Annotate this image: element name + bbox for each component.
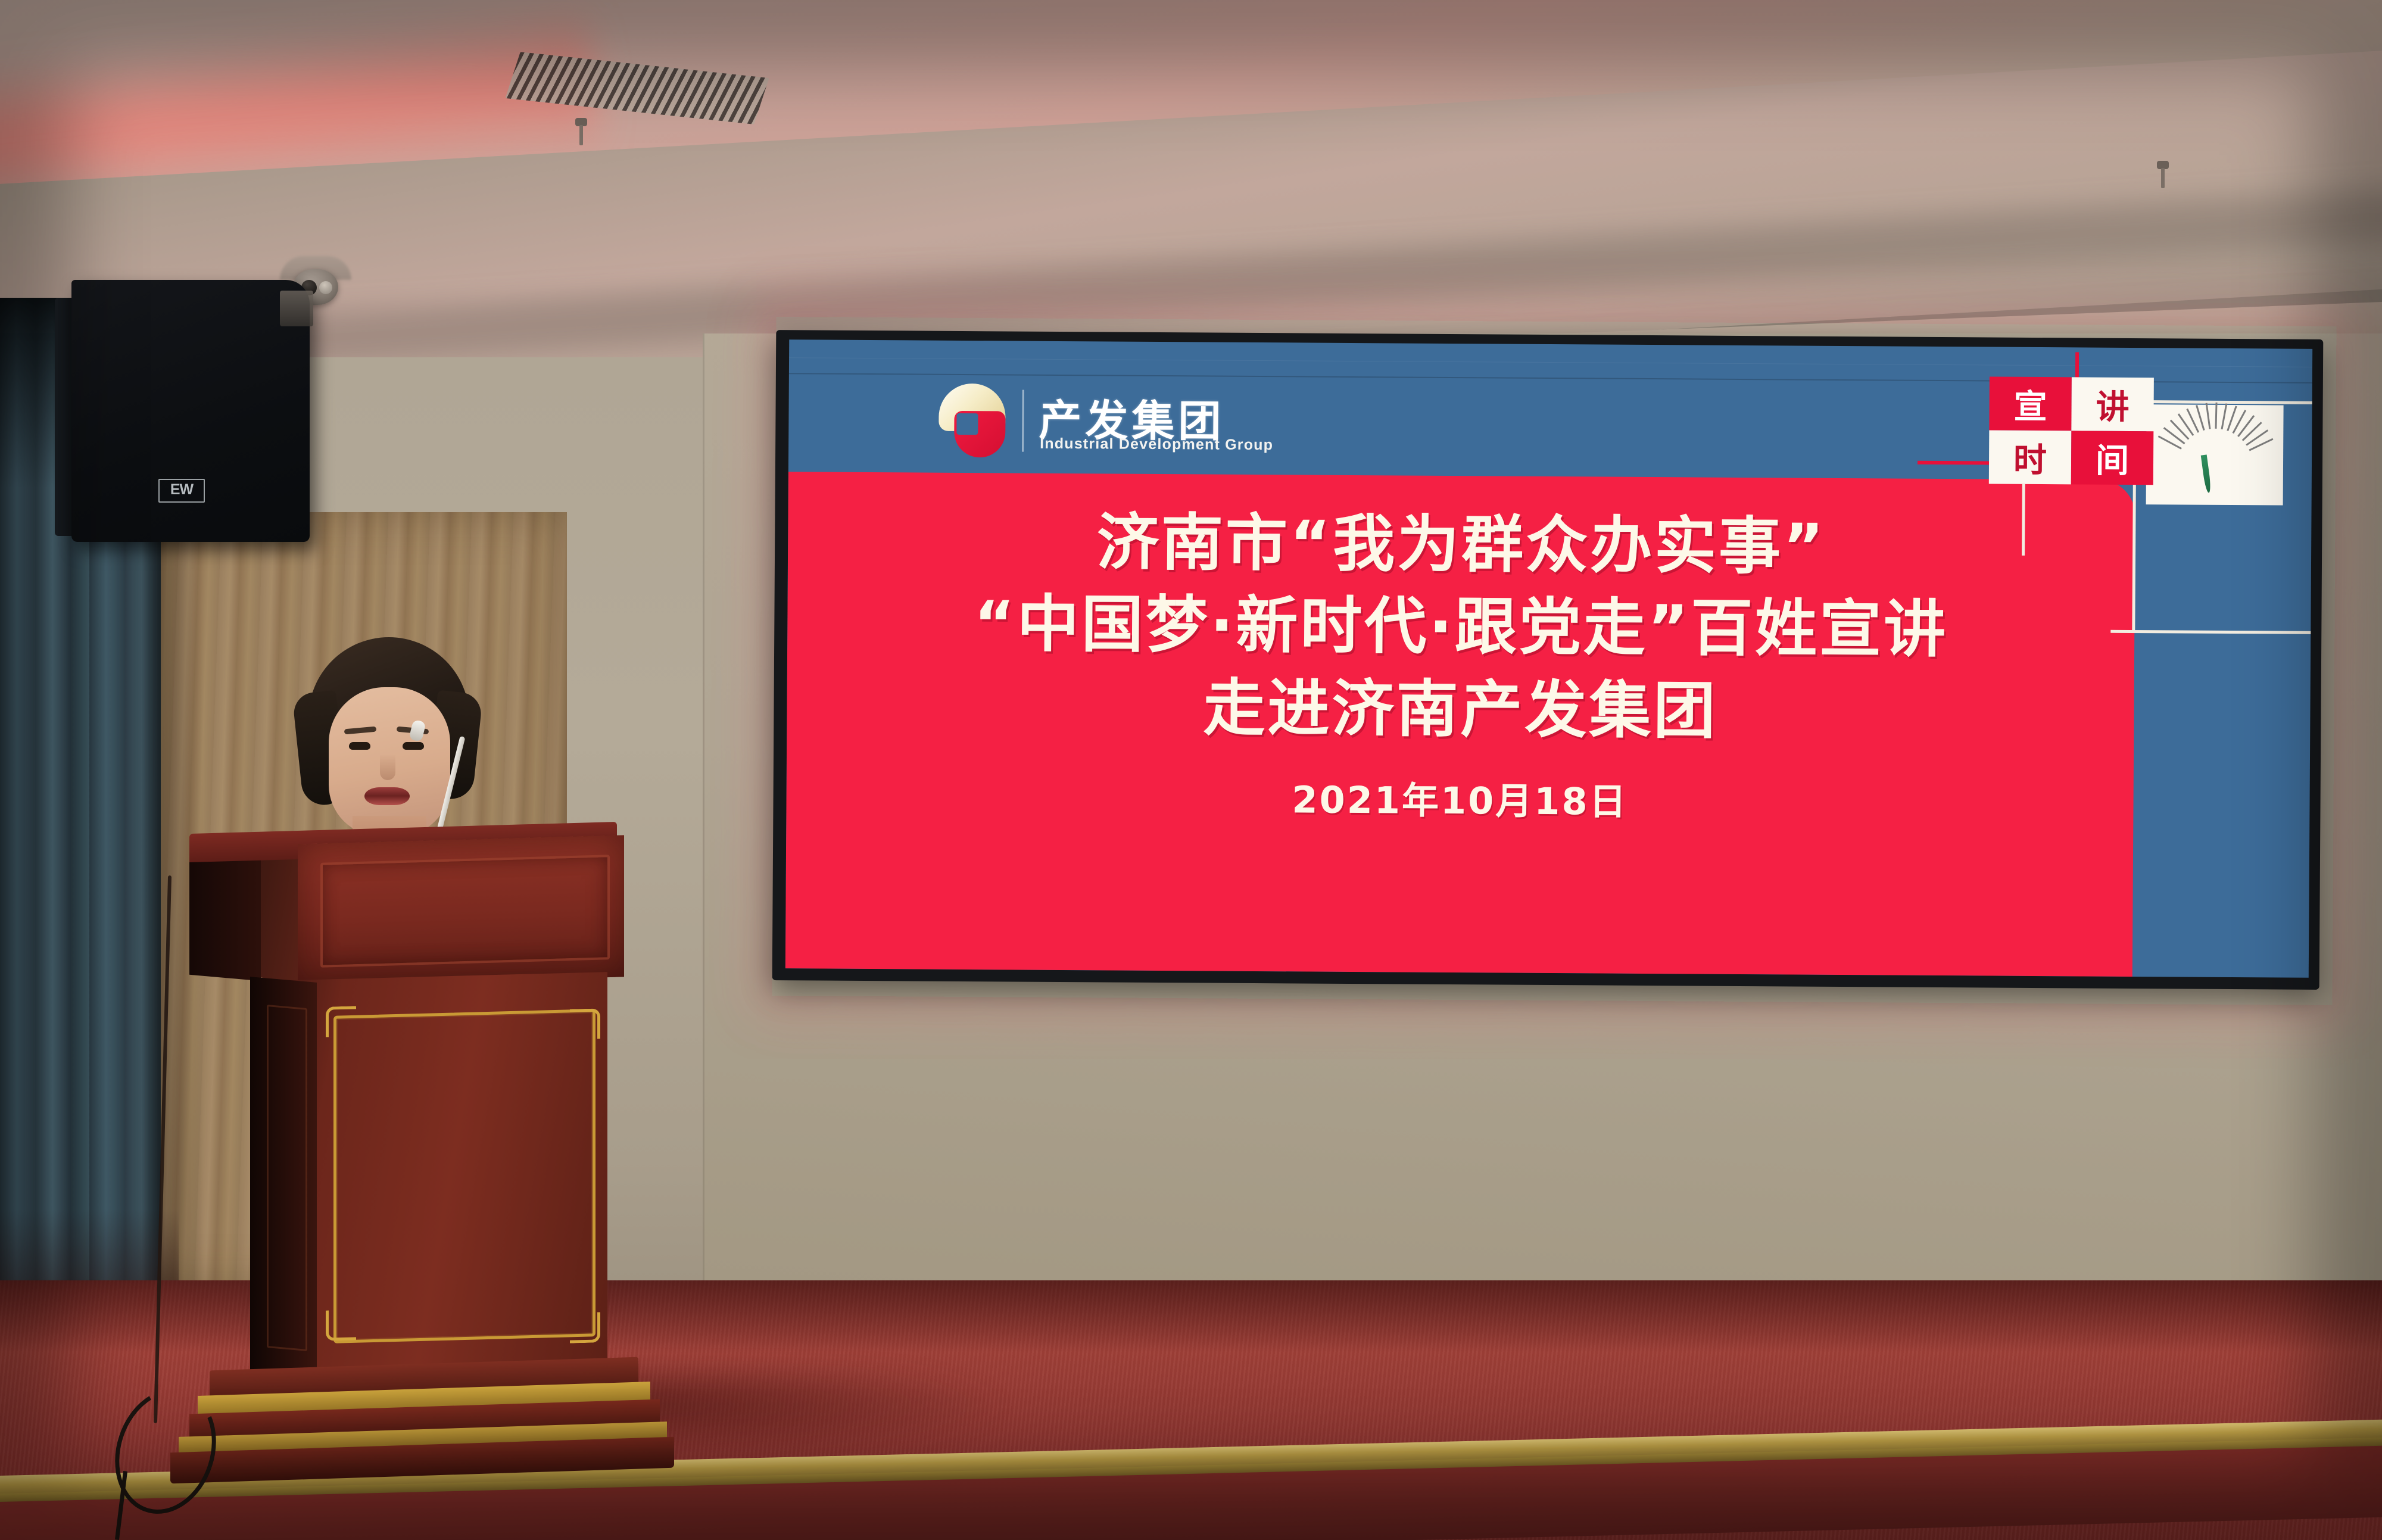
fire-sprinkler-icon (2155, 161, 2171, 188)
lecture-time-badge: 宣 讲 时 间 (1989, 377, 2154, 485)
lectern-gold-corner-bottom-right (570, 1312, 600, 1343)
camera-ir-illuminator-icon (319, 281, 332, 294)
slide-headline-line-3: 走进济南产发集团 (1203, 666, 1718, 752)
badge-accent-horizontal (1918, 461, 1991, 465)
speaker-nose (380, 754, 395, 780)
lectern-gold-corner-bottom-left (326, 1310, 356, 1341)
wall-seam (703, 333, 704, 1346)
wall-mounted-loudspeaker (71, 280, 310, 542)
sunburst-stem (2201, 454, 2212, 493)
speaker-eye-right (403, 742, 424, 750)
slide-text-block: 济南市“我为群众办实事” “中国梦·新时代·跟党走”百姓宣讲 走进济南产发集团 … (785, 472, 2135, 977)
badge-cell-2: 讲 (2071, 377, 2154, 431)
loudspeaker-brand-logo: EW (158, 479, 205, 503)
lectern-gold-frame (333, 1009, 595, 1343)
company-name-english: Industrial Development Group (1040, 435, 1273, 454)
slide-headline-line-2: “中国梦·新时代·跟党走”百姓宣讲 (974, 582, 1948, 671)
badge-cell-4: 间 (2071, 431, 2154, 485)
badge-accent-vertical (2075, 352, 2079, 381)
led-panel-seam (789, 357, 2312, 367)
logo-divider (1022, 390, 1024, 452)
badge-cell-3: 时 (1989, 431, 2072, 485)
corporate-logo: 产发集团 Industrial Development Group (939, 384, 1320, 463)
slide-headline-line-1: 济南市“我为群众办实事” (1096, 501, 1826, 588)
lectern-front-inset-panel (320, 855, 610, 968)
lectern-gold-corner-top-right (570, 1008, 600, 1039)
led-presentation-screen[interactable]: 产发集团 Industrial Development Group (785, 339, 2312, 978)
speaker-eye-left (349, 742, 370, 750)
lectern-column-side-inset (267, 1005, 307, 1351)
badge-cell-1: 宣 (1989, 377, 2072, 431)
speaker-mouth (364, 787, 410, 805)
slide-date: 2021年10月18日 (1292, 769, 1628, 825)
scene-root: EW 产发集团 Industrial Development Group (0, 0, 2382, 1540)
fire-sprinkler-icon (573, 118, 590, 145)
badge-white-line-horizontal (2153, 400, 2313, 404)
lectern-gold-corner-top-left (326, 1006, 356, 1037)
slide-accent-line-horizontal (2110, 630, 2312, 634)
loudspeaker-bracket (280, 291, 313, 326)
sunburst-graphic-icon (2146, 404, 2284, 505)
company-logo-mark-icon (939, 384, 1006, 458)
